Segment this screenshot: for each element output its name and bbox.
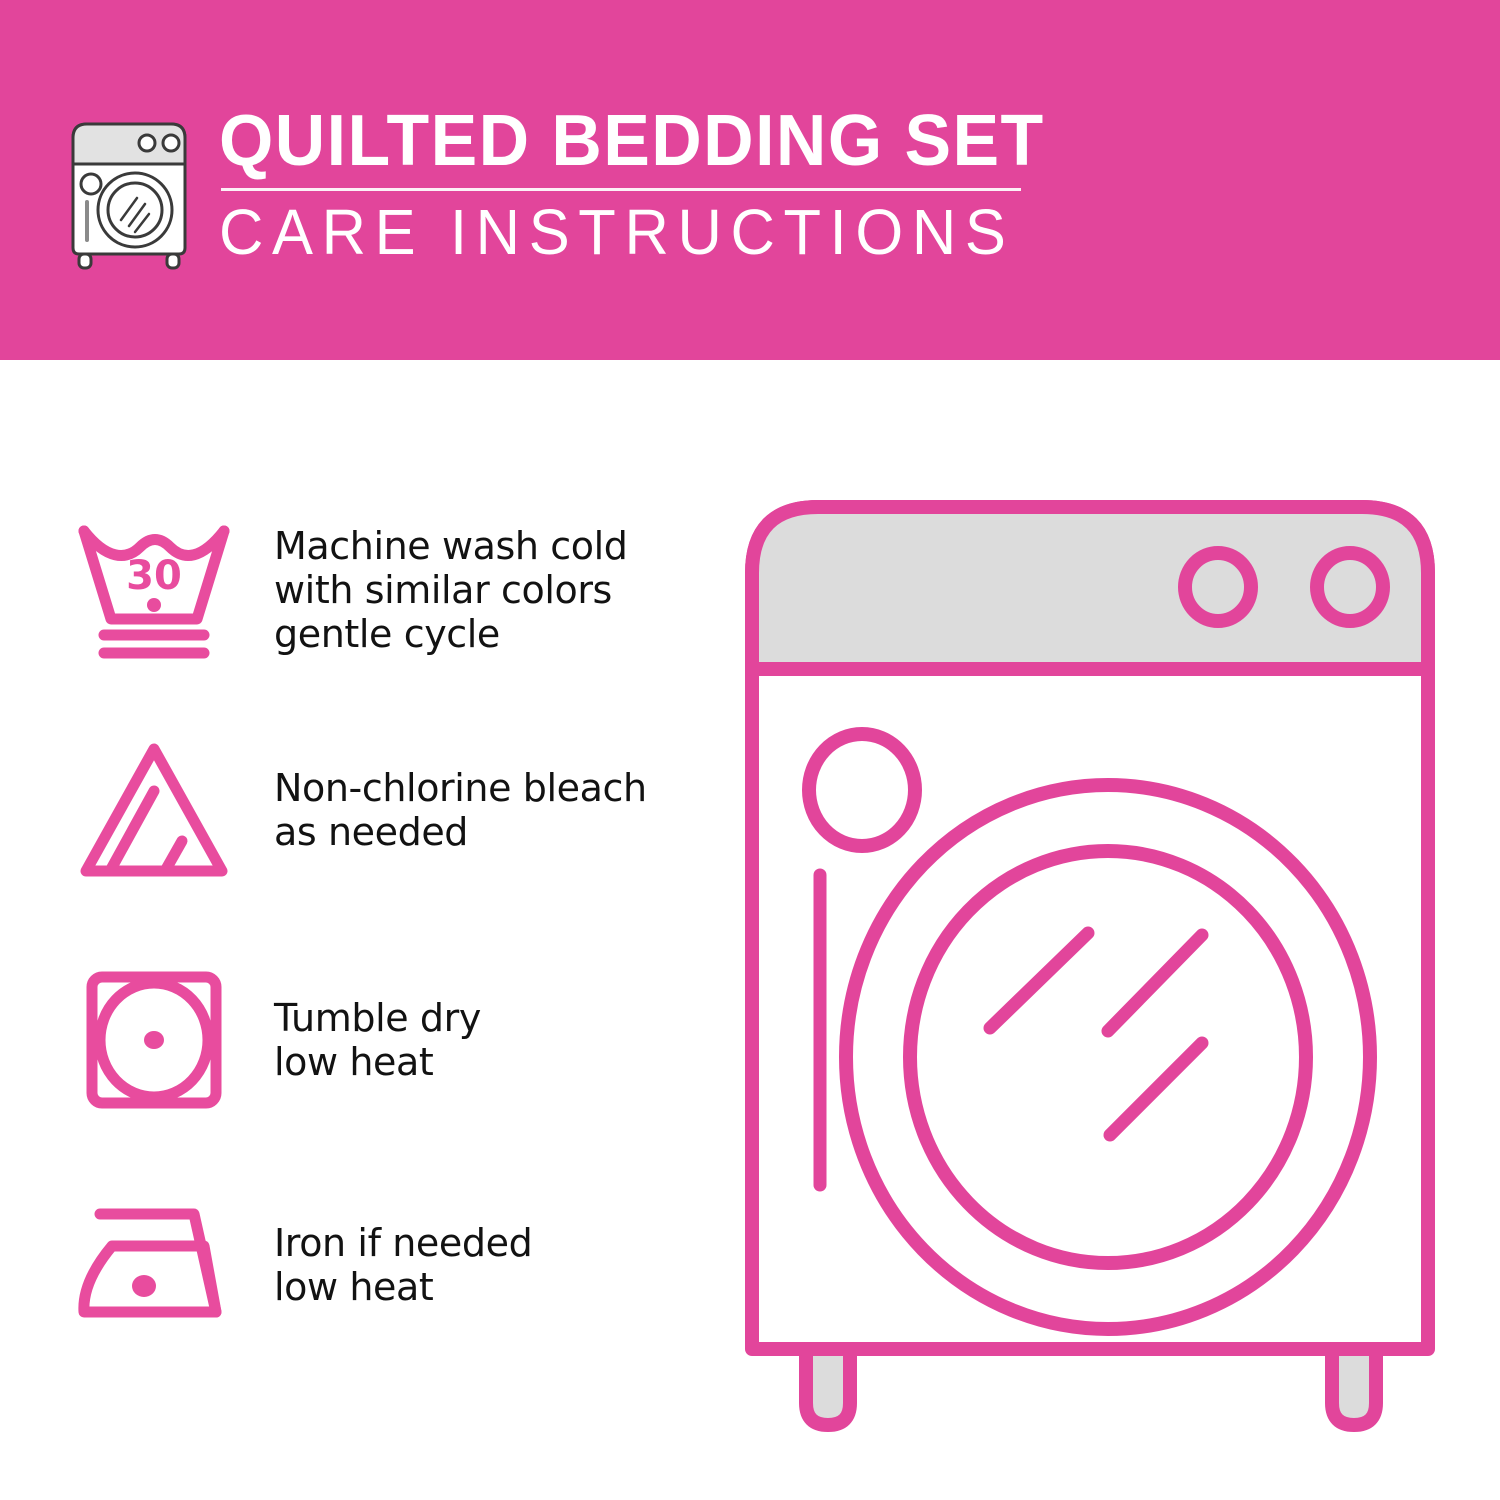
care-row-iron: Iron if needed low heat — [70, 1180, 710, 1350]
bleach-triangle-icon — [70, 725, 238, 895]
iron-icon — [70, 1180, 238, 1350]
foot-right — [1332, 1349, 1376, 1425]
care-label-wash: Machine wash cold with similar colors ge… — [274, 524, 628, 656]
wash-basin-30-icon: 30 — [70, 505, 238, 675]
wash-temperature-value: 30 — [126, 553, 182, 599]
header-band: QUILTED BEDDING SET CARE INSTRUCTIONS — [0, 0, 1500, 360]
foot-left — [806, 1349, 850, 1425]
care-label-iron: Iron if needed low heat — [274, 1221, 532, 1309]
washing-machine-illustration — [740, 495, 1440, 1440]
drum-inner-ring — [910, 851, 1306, 1263]
care-row-tumble-dry: Tumble dry low heat — [70, 955, 710, 1125]
tumble-dry-icon — [70, 955, 238, 1125]
care-instructions-list: 30 Machine wash cold with similar colors… — [0, 360, 730, 1500]
header-titles: QUILTED BEDDING SET CARE INSTRUCTIONS — [219, 98, 1070, 267]
header-content: QUILTED BEDDING SET CARE INSTRUCTIONS — [63, 98, 1070, 270]
page-subtitle: CARE INSTRUCTIONS — [219, 197, 1036, 267]
title-divider — [221, 188, 1021, 191]
care-row-wash: 30 Machine wash cold with similar colors… — [70, 505, 710, 675]
care-row-bleach: Non-chlorine bleach as needed — [70, 725, 710, 895]
care-instructions-page: QUILTED BEDDING SET CARE INSTRUCTIONS — [0, 0, 1500, 1500]
care-label-bleach: Non-chlorine bleach as needed — [274, 766, 647, 854]
knob-right — [1317, 553, 1383, 621]
indicator-circle — [809, 734, 915, 846]
washing-machine-icon — [63, 110, 195, 270]
knob-left — [1185, 553, 1251, 621]
page-title: QUILTED BEDDING SET — [219, 102, 1045, 180]
care-label-tumble-dry: Tumble dry low heat — [274, 996, 481, 1084]
